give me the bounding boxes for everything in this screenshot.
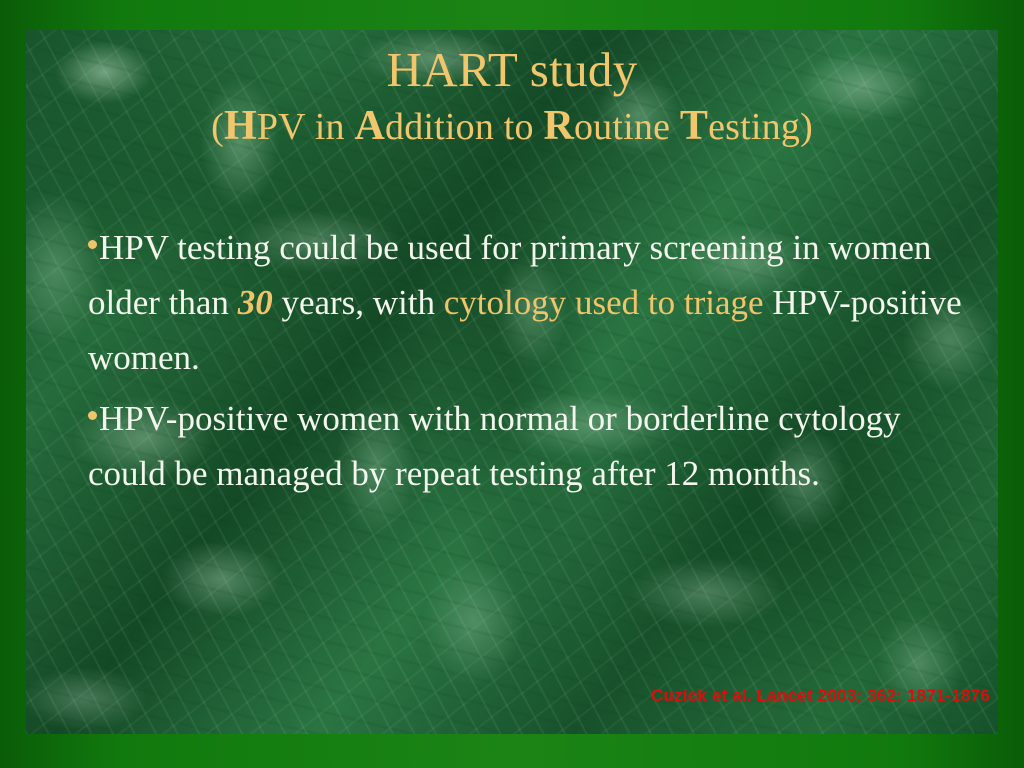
subtitle-cap-a: A bbox=[354, 103, 385, 149]
page-subtitle: (HPV in Addition to Routine Testing) bbox=[26, 102, 998, 151]
subtitle-cap-r: R bbox=[543, 103, 574, 149]
slide-content-panel: HART study (HPV in Addition to Routine T… bbox=[26, 30, 998, 734]
subtitle-seg-ddition: ddition to bbox=[385, 106, 543, 148]
subtitle-seg-outine: outine bbox=[574, 106, 680, 148]
title-block: HART study (HPV in Addition to Routine T… bbox=[26, 42, 998, 151]
slide-frame: HART study (HPV in Addition to Routine T… bbox=[0, 0, 1024, 768]
bullet-list: HPV testing could be used for primary sc… bbox=[88, 220, 968, 507]
page-title: HART study bbox=[26, 42, 998, 98]
list-item: HPV-positive women with normal or border… bbox=[88, 391, 968, 501]
bullet-marker-icon bbox=[88, 240, 97, 249]
bullet-2-text: HPV-positive women with normal or border… bbox=[88, 399, 901, 493]
bullet-1-text-part-2: years, with bbox=[273, 283, 444, 322]
bullet-marker-icon bbox=[88, 411, 97, 420]
bullet-1-highlight: cytology used to triage bbox=[444, 283, 764, 322]
subtitle-cap-h: H bbox=[224, 103, 257, 149]
citation-reference: Cuzick et al. Lancet 2003; 362: 1871-187… bbox=[651, 686, 990, 706]
subtitle-cap-t: T bbox=[680, 103, 708, 149]
bullet-1-age-emphasis: 30 bbox=[238, 283, 273, 322]
subtitle-close-paren: ) bbox=[800, 106, 813, 148]
list-item: HPV testing could be used for primary sc… bbox=[88, 220, 968, 385]
subtitle-seg-pv: PV in bbox=[257, 106, 355, 148]
subtitle-open-paren: ( bbox=[211, 106, 224, 148]
subtitle-seg-esting: esting bbox=[708, 106, 800, 148]
